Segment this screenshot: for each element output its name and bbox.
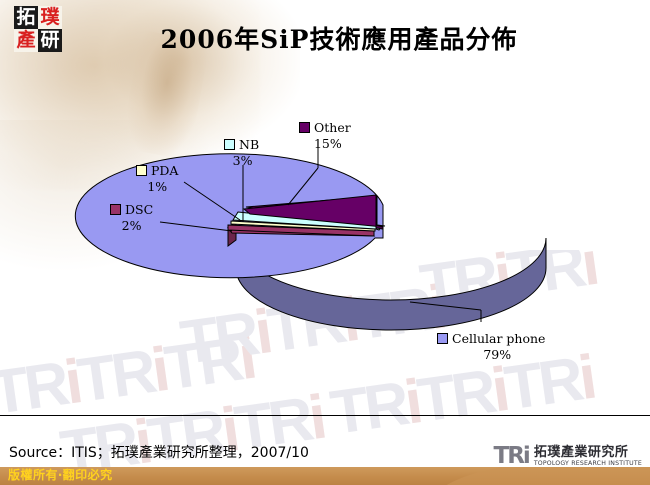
callout-label-other: Other (314, 120, 351, 136)
tri-brand-logo: TRi 拓璞產業研究所 TOPOLOGY RESEARCH INSTITUTE (494, 446, 642, 467)
slide-canvas: TRiTRiTRi TRiTRiTRi TRiTRiTRi TRiTRiTRi … (0, 0, 650, 485)
logo-char-yan: 研 (38, 29, 62, 52)
logo-char-chan: 產 (14, 29, 38, 52)
callout-label-pda: PDA (151, 163, 178, 179)
callout-value-nb: 3% (224, 153, 259, 169)
tri-english-name: TOPOLOGY RESEARCH INSTITUTE (534, 461, 642, 467)
callout-nb: NB 3% (224, 137, 259, 168)
source-divider (0, 415, 650, 416)
source-note: Source：ITIS；拓璞產業研究所整理，2007/10 (9, 442, 309, 462)
tri-chinese-name: 拓璞產業研究所 (534, 446, 629, 459)
logo-char-pu: 璞 (38, 6, 62, 29)
callout-value-cellular-phone: 79% (437, 347, 545, 363)
copyright-notice: 版權所有‧翻印必究 (8, 466, 113, 483)
callout-cellular-phone: Cellular phone 79% (437, 331, 545, 362)
callout-label-dsc: DSC (125, 202, 153, 218)
legend-swatch-nb (224, 139, 235, 150)
tri-corner-logo: 拓 璞 產 研 (14, 6, 62, 52)
callout-label-nb: NB (239, 137, 259, 153)
legend-swatch-other (299, 122, 310, 133)
callout-value-pda: 1% (136, 179, 178, 195)
callout-value-dsc: 2% (110, 218, 153, 234)
legend-swatch-dsc (110, 204, 121, 215)
callout-value-other: 15% (299, 136, 351, 152)
page-title: 2006年SiP技術應用產品分佈 (0, 20, 650, 56)
pie-chart (0, 0, 650, 430)
logo-char-tuo: 拓 (14, 6, 38, 29)
callout-other: Other 15% (299, 120, 351, 151)
callout-dsc: DSC 2% (110, 202, 153, 233)
legend-swatch-cellular-phone (437, 333, 448, 344)
tri-mark: TRi (494, 446, 529, 467)
callout-pda: PDA 1% (136, 163, 178, 194)
legend-swatch-pda (136, 165, 147, 176)
callout-label-cellular-phone: Cellular phone (452, 331, 545, 347)
